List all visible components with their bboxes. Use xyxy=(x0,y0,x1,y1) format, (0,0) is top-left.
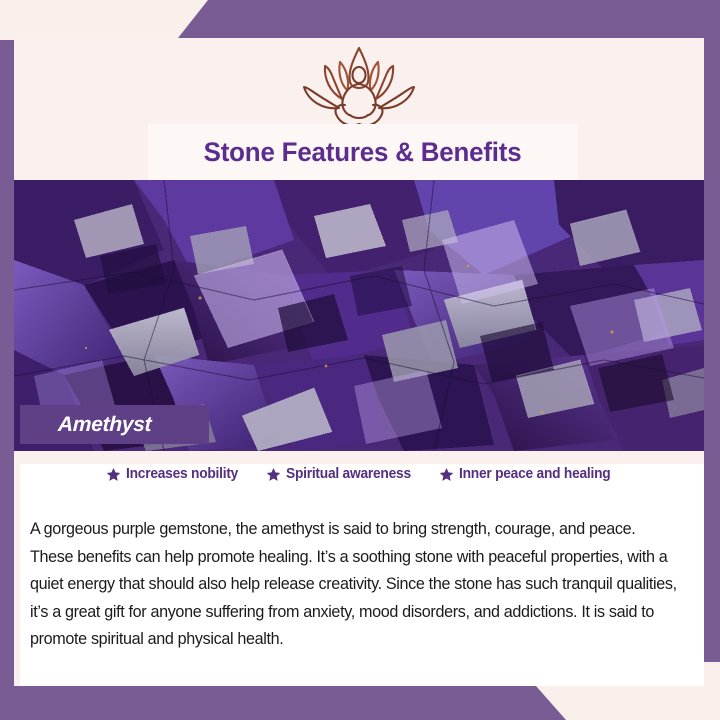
feature-label: Inner peace and healing xyxy=(459,466,610,482)
page-title: Stone Features & Benefits xyxy=(204,137,522,168)
star-icon xyxy=(266,467,281,482)
lotus-meditation-logo-icon xyxy=(284,42,434,135)
star-icon xyxy=(106,467,121,482)
frame-left-strip xyxy=(0,40,14,695)
feature-item: Inner peace and healing xyxy=(439,466,618,482)
feature-label: Spiritual awareness xyxy=(286,466,411,482)
stone-name-banner: Amethyst xyxy=(20,405,209,444)
feature-item: Increases nobility xyxy=(106,466,244,482)
content-top-fade xyxy=(20,452,704,464)
frame-right-strip xyxy=(704,38,720,662)
page-title-plate: Stone Features & Benefits xyxy=(148,124,578,180)
content-card: Increases nobility Spiritual awareness I… xyxy=(20,452,704,686)
feature-label: Increases nobility xyxy=(126,466,238,482)
stone-name: Amethyst xyxy=(58,413,152,437)
features-list: Increases nobility Spiritual awareness I… xyxy=(20,466,704,482)
frame-bottom-band xyxy=(0,686,720,720)
poster-root: BUDDHA STONES Stone Features & Benefits xyxy=(0,0,720,720)
feature-item: Spiritual awareness xyxy=(266,466,417,482)
stone-description: A gorgeous purple gemstone, the amethyst… xyxy=(30,516,682,654)
star-icon xyxy=(439,467,454,482)
frame-top-band xyxy=(0,0,720,38)
